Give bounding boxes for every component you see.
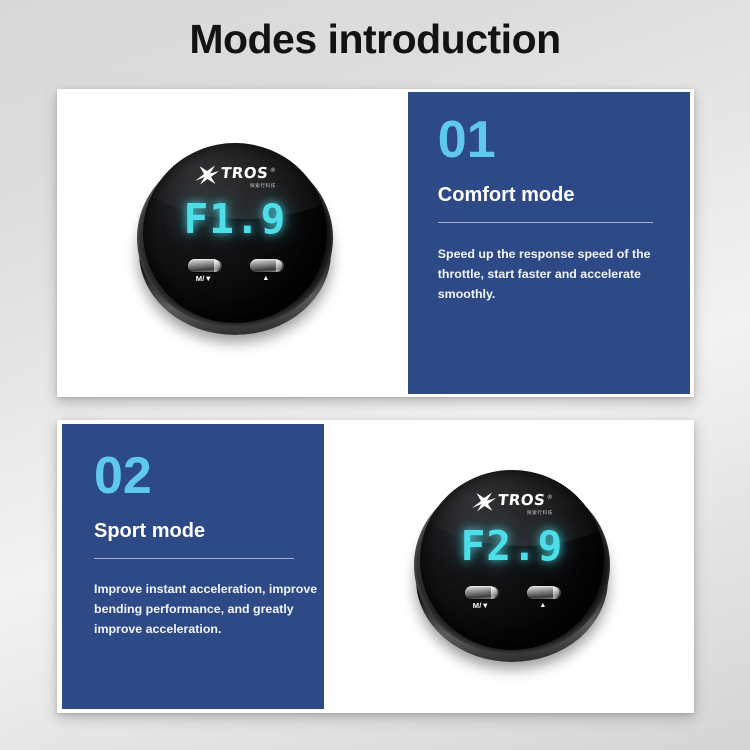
logo-wordmark: TROS® bbox=[220, 166, 276, 181]
device-face: TROS® 探索行科技 F1.9 M/▼ ▲ bbox=[143, 143, 327, 323]
up-button[interactable]: ▲ bbox=[248, 259, 284, 283]
up-button-label: ▲ bbox=[539, 602, 546, 609]
device-pane-sport: TROS® 探索行科技 F2.9 M/▼ ▲ bbox=[324, 420, 694, 713]
logo-wordmark-group: TROS® 探索行科技 bbox=[498, 493, 553, 516]
mode-name-sport: Sport mode bbox=[94, 520, 205, 543]
divider bbox=[438, 222, 653, 223]
mode-description-comfort: Speed up the response speed of the throt… bbox=[438, 244, 660, 304]
up-button-cap[interactable] bbox=[527, 586, 559, 599]
up-button[interactable]: ▲ bbox=[525, 586, 561, 610]
device-button-row: M/▼ ▲ bbox=[420, 586, 604, 610]
throttle-controller-device-sport[interactable]: TROS® 探索行科技 F2.9 M/▼ ▲ bbox=[412, 468, 612, 668]
mode-number-01: 01 bbox=[438, 114, 496, 166]
mode-down-button-cap[interactable] bbox=[188, 259, 220, 272]
throttle-controller-device-comfort[interactable]: TROS® 探索行科技 F1.9 M/▼ ▲ bbox=[135, 141, 335, 341]
device-face: TROS® 探索行科技 F2.9 M/▼ ▲ bbox=[420, 470, 604, 650]
device-button-row: M/▼ ▲ bbox=[143, 259, 327, 283]
mode-down-button-label: M/▼ bbox=[196, 275, 213, 283]
x-star-icon bbox=[471, 492, 497, 512]
xtros-logo: TROS® 探索行科技 bbox=[143, 165, 327, 189]
x-star-icon bbox=[194, 165, 220, 185]
logo-wordmark-group: TROS® 探索行科技 bbox=[221, 166, 276, 189]
mode-down-button[interactable]: M/▼ bbox=[463, 586, 499, 610]
mode-down-button-label: M/▼ bbox=[473, 602, 490, 610]
logo-subtext: 探索行科技 bbox=[527, 510, 553, 516]
mode-number-02: 02 bbox=[94, 450, 152, 502]
up-button-cap[interactable] bbox=[250, 259, 282, 272]
up-button-label: ▲ bbox=[262, 275, 269, 282]
logo-brand-text: TROS bbox=[497, 491, 546, 509]
mode-description-sport: Improve instant acceleration, improve be… bbox=[94, 579, 334, 639]
page-title: Modes introduction bbox=[0, 16, 750, 63]
xtros-logo: TROS® 探索行科技 bbox=[420, 492, 604, 516]
info-pane-comfort: 01 Comfort mode Speed up the response sp… bbox=[408, 92, 690, 394]
logo-subtext: 探索行科技 bbox=[250, 183, 276, 189]
mode-card-sport: 02 Sport mode Improve instant accelerati… bbox=[57, 420, 694, 713]
mode-name-comfort: Comfort mode bbox=[438, 184, 575, 207]
registered-mark: ® bbox=[546, 494, 553, 501]
info-pane-sport: 02 Sport mode Improve instant accelerati… bbox=[62, 424, 324, 709]
logo-brand-text: TROS bbox=[220, 164, 269, 182]
led-display-sport: F2.9 bbox=[420, 522, 604, 570]
registered-mark: ® bbox=[269, 167, 276, 174]
mode-down-button[interactable]: M/▼ bbox=[186, 259, 222, 283]
mode-card-comfort: TROS® 探索行科技 F1.9 M/▼ ▲ bbox=[57, 89, 694, 397]
led-display-comfort: F1.9 bbox=[143, 195, 327, 243]
device-pane-comfort: TROS® 探索行科技 F1.9 M/▼ ▲ bbox=[57, 89, 408, 397]
mode-down-button-cap[interactable] bbox=[465, 586, 497, 599]
divider bbox=[94, 558, 294, 559]
logo-wordmark: TROS® bbox=[497, 493, 553, 508]
